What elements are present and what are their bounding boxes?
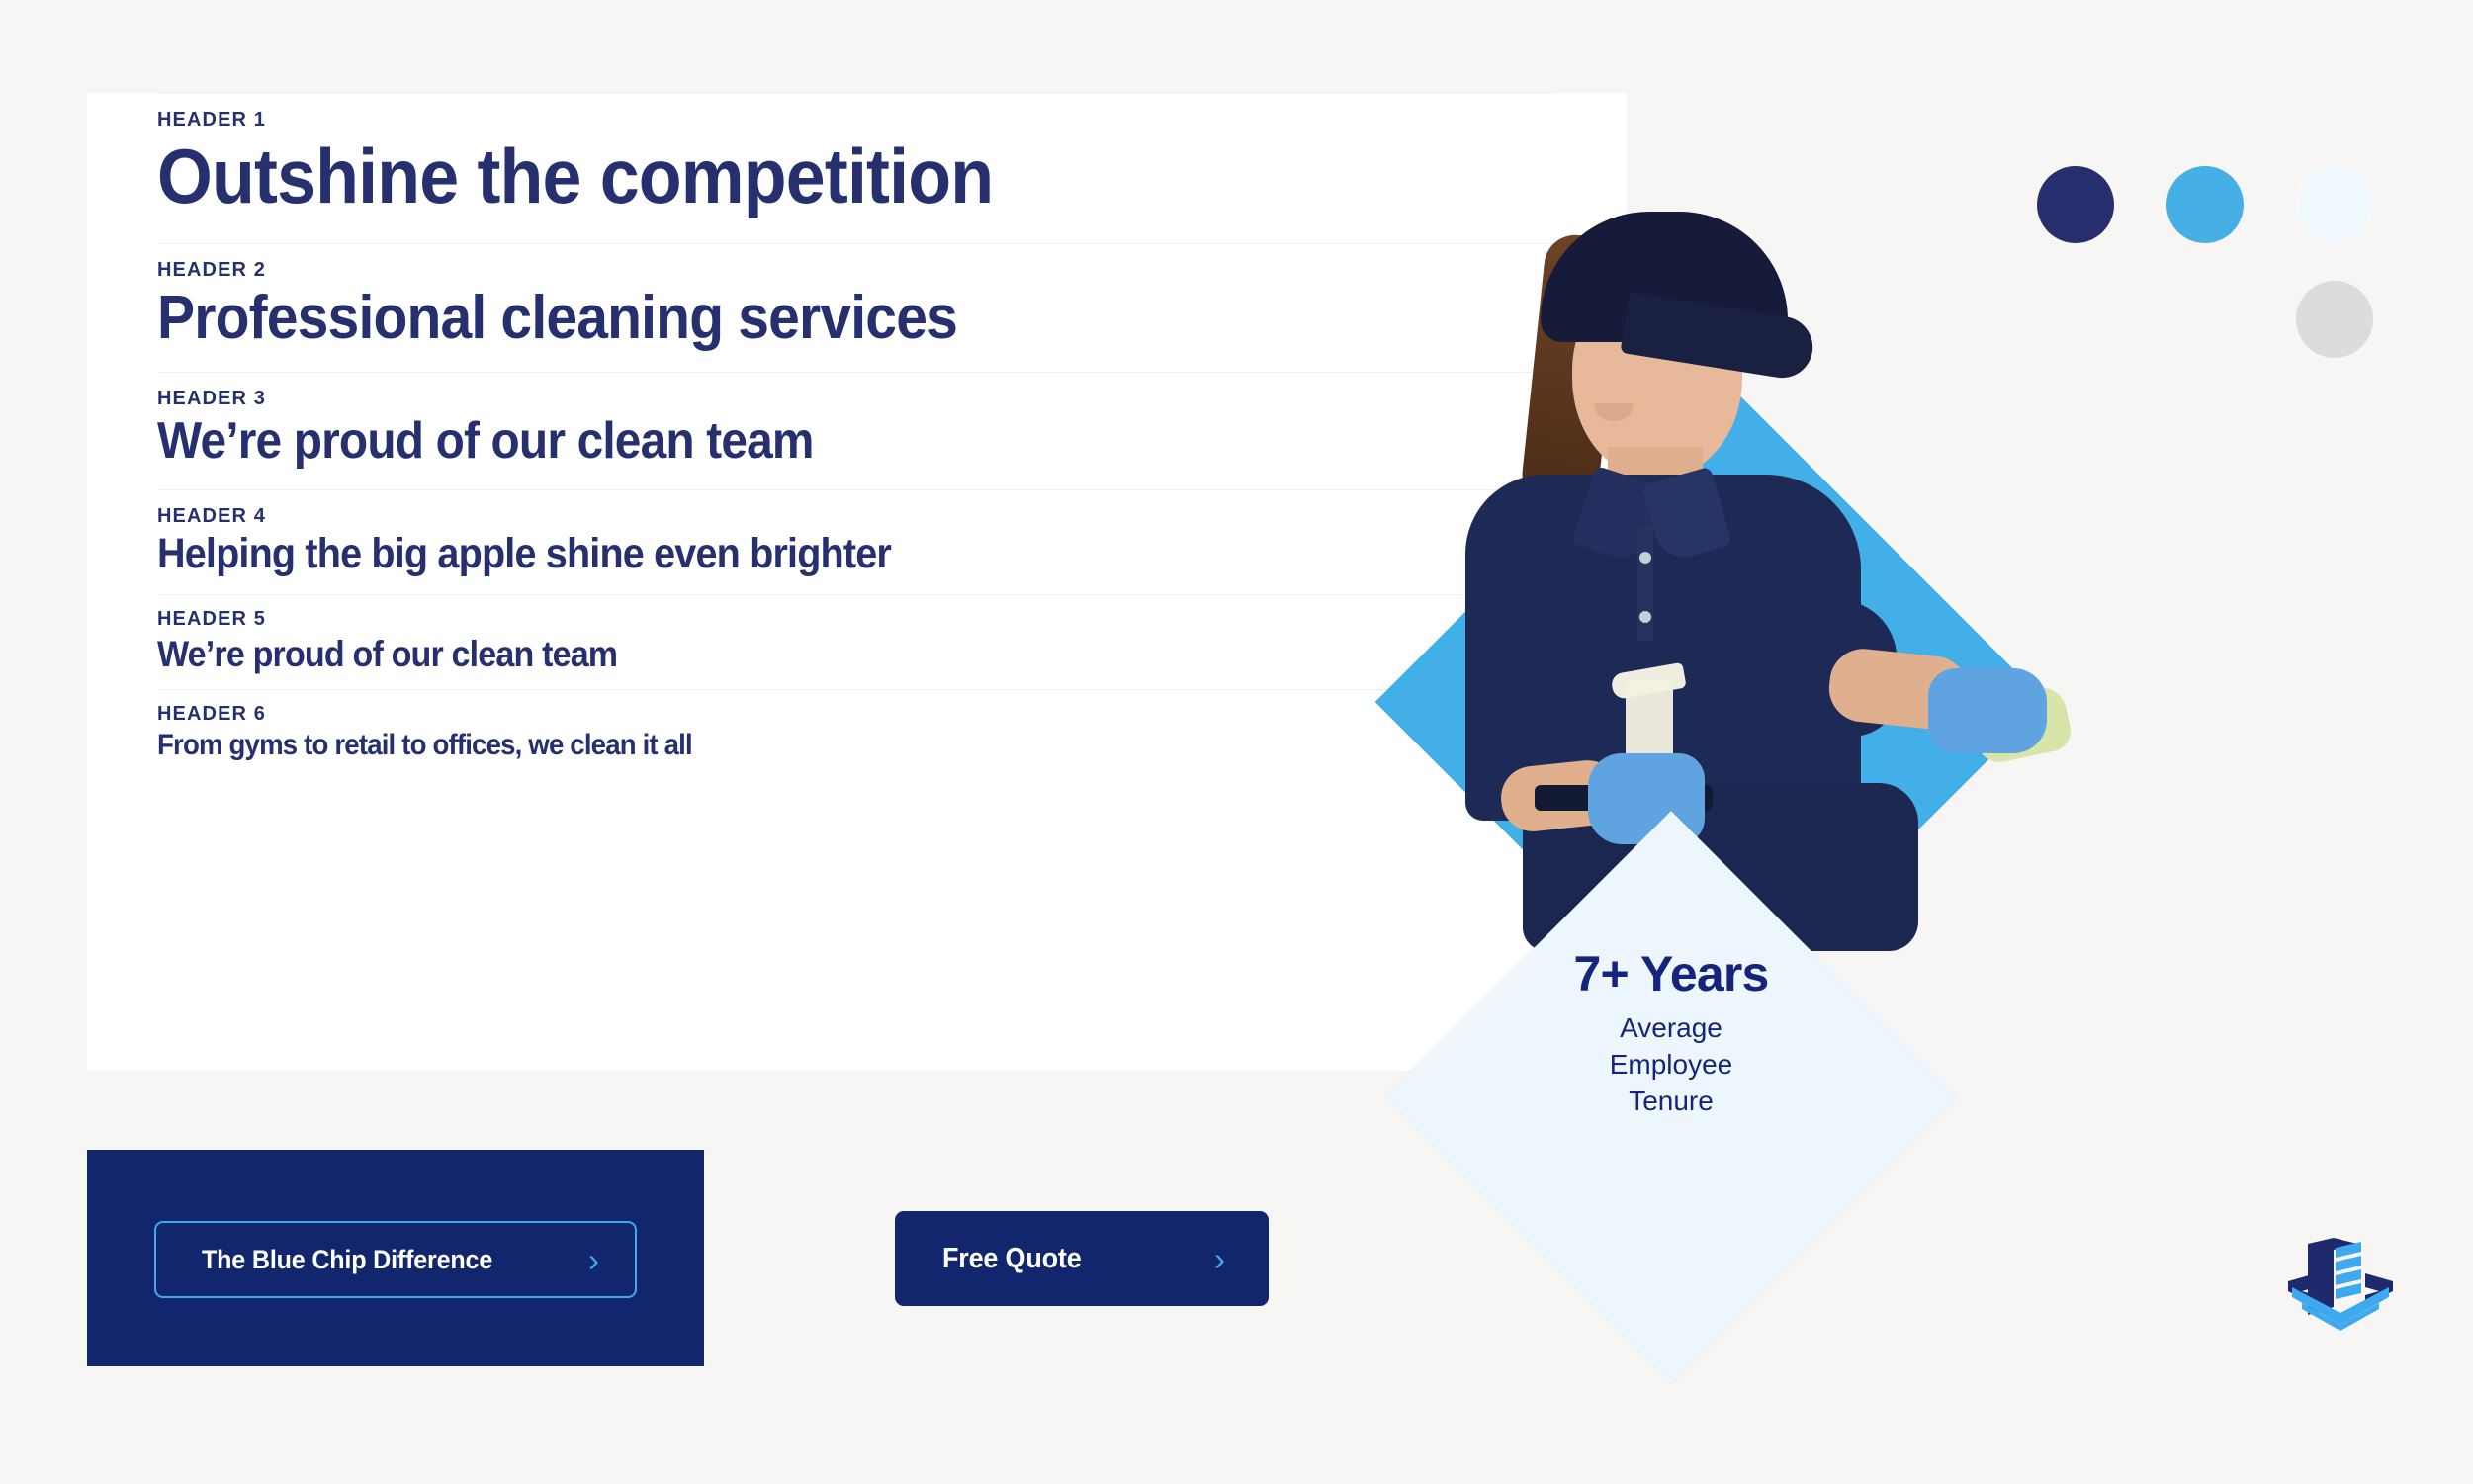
navy-cta-panel: The Blue Chip Difference › xyxy=(87,1150,704,1366)
swatch-sky-blue xyxy=(2166,166,2244,243)
type-row-sample-h5: We’re proud of our clean team xyxy=(157,635,1445,673)
type-row-label: HEADER 1 xyxy=(157,110,1556,130)
type-row-label: HEADER 2 xyxy=(157,260,1556,280)
type-row-header-2: HEADER 2 Professional cleaning services xyxy=(157,243,1556,373)
type-row-header-5: HEADER 5 We’re proud of our clean team xyxy=(157,594,1556,689)
cleaning-technician-photo xyxy=(1414,178,1968,850)
tenure-headline: 7+ Years xyxy=(1493,949,1849,999)
type-row-header-6: HEADER 6 From gyms to retail to offices,… xyxy=(157,689,1556,777)
chevron-right-icon: › xyxy=(1214,1243,1225,1275)
type-row-sample-h4: Helping the big apple shine even brighte… xyxy=(157,532,1445,577)
tenure-line-2: Employee xyxy=(1493,1047,1849,1084)
type-row-label: HEADER 6 xyxy=(157,704,1556,724)
free-quote-button[interactable]: Free Quote › xyxy=(895,1211,1269,1306)
type-row-label: HEADER 3 xyxy=(157,389,1556,408)
type-row-label: HEADER 5 xyxy=(157,609,1556,629)
type-row-sample-h6: From gyms to retail to offices, we clean… xyxy=(157,730,1445,761)
button-label: The Blue Chip Difference xyxy=(202,1245,492,1275)
page-canvas: HEADER 1 Outshine the competition HEADER… xyxy=(0,0,2473,1484)
type-row-header-3: HEADER 3 We’re proud of our clean team xyxy=(157,372,1556,488)
swatch-navy xyxy=(2037,166,2114,243)
type-row-sample-h3: We’re proud of our clean team xyxy=(157,414,1445,469)
type-row-header-1: HEADER 1 Outshine the competition xyxy=(157,93,1556,243)
shirt-button xyxy=(1639,552,1651,564)
color-swatch-group xyxy=(2037,166,2393,364)
tenure-badge: 7+ Years Average Employee Tenure xyxy=(1493,949,1849,1120)
type-scale-list: HEADER 1 Outshine the competition HEADER… xyxy=(157,93,1556,777)
blue-chip-difference-button[interactable]: The Blue Chip Difference › xyxy=(154,1221,637,1298)
brand-logo xyxy=(2286,1230,2395,1339)
shirt-placket xyxy=(1637,526,1653,641)
building-logo-icon xyxy=(2286,1230,2395,1339)
type-row-sample-h1: Outshine the competition xyxy=(157,135,1445,218)
button-label: Free Quote xyxy=(942,1243,1082,1275)
glove-right xyxy=(1928,668,2047,753)
tenure-line-1: Average xyxy=(1493,1010,1849,1047)
type-row-label: HEADER 4 xyxy=(157,506,1556,526)
swatch-pale-blue xyxy=(2296,166,2373,243)
typography-spec-card: HEADER 1 Outshine the competition HEADER… xyxy=(87,93,1627,1071)
tenure-line-3: Tenure xyxy=(1493,1084,1849,1120)
shirt-button xyxy=(1639,611,1651,623)
type-row-sample-h2: Professional cleaning services xyxy=(157,286,1445,351)
type-row-header-4: HEADER 4 Helping the big apple shine eve… xyxy=(157,489,1556,595)
swatch-light-gray xyxy=(2296,281,2373,358)
chevron-right-icon: › xyxy=(588,1244,599,1276)
